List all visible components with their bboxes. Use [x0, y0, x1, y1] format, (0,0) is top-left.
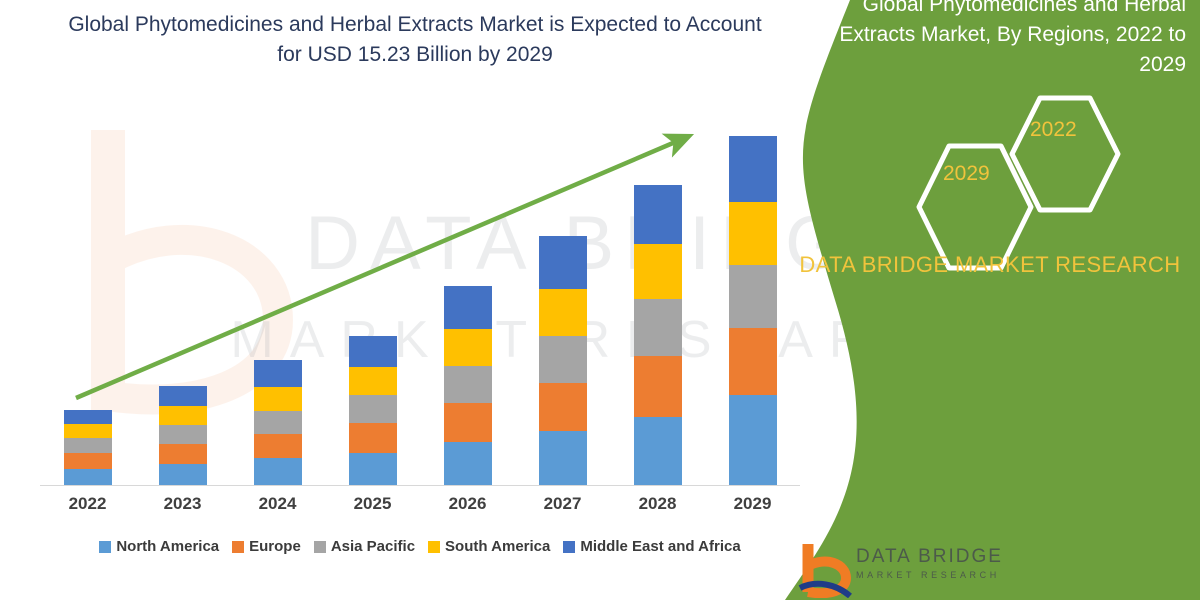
- chart-legend: North AmericaEuropeAsia PacificSouth Ame…: [40, 538, 800, 555]
- legend-swatch-icon: [428, 541, 440, 553]
- x-axis-label-2027: 2027: [528, 494, 598, 514]
- x-axis-label-2022: 2022: [53, 494, 123, 514]
- logo-tagline: MARKET RESEARCH: [856, 570, 1000, 580]
- hexagon-2029-label: 2029: [943, 162, 990, 186]
- chart-panel: Global Phytomedicines and Herbal Extract…: [0, 0, 830, 600]
- hexagon-badges: 2022 2029: [885, 90, 1185, 235]
- panel-title: Global Phytomedicines and Herbal Extract…: [826, 0, 1186, 79]
- brand-panel-content: Global Phytomedicines and Herbal Extract…: [780, 0, 1200, 600]
- logo-name: DATA BRIDGE: [856, 546, 1003, 568]
- brand-panel: Global Phytomedicines and Herbal Extract…: [780, 0, 1200, 600]
- plot-area: [40, 100, 800, 486]
- legend-swatch-icon: [99, 541, 111, 553]
- legend-item[interactable]: North America: [99, 538, 219, 555]
- legend-item[interactable]: South America: [428, 538, 550, 555]
- legend-swatch-icon: [314, 541, 326, 553]
- legend-label: Middle East and Africa: [580, 538, 740, 555]
- brand-name: DATA BRIDGE MARKET RESEARCH: [790, 250, 1190, 280]
- infographic-root: DATA BRIDGE MARKET RESEARCH Global Phyto…: [0, 0, 1200, 600]
- x-axis-labels: 20222023202420252026202720282029: [40, 494, 800, 514]
- x-axis-label-2028: 2028: [623, 494, 693, 514]
- legend-label: North America: [116, 538, 219, 555]
- legend-label: Asia Pacific: [331, 538, 415, 555]
- chart-title: Global Phytomedicines and Herbal Extract…: [60, 10, 770, 70]
- legend-item[interactable]: Asia Pacific: [314, 538, 415, 555]
- growth-trend-arrow-icon: [40, 100, 800, 486]
- x-axis-label-2026: 2026: [433, 494, 503, 514]
- hexagon-2022-label: 2022: [1030, 118, 1077, 142]
- legend-label: South America: [445, 538, 550, 555]
- x-axis-label-2024: 2024: [243, 494, 313, 514]
- legend-item[interactable]: Europe: [232, 538, 301, 555]
- legend-item[interactable]: Middle East and Africa: [563, 538, 740, 555]
- x-axis-label-2025: 2025: [338, 494, 408, 514]
- x-axis-label-2023: 2023: [148, 494, 218, 514]
- legend-swatch-icon: [563, 541, 575, 553]
- legend-label: Europe: [249, 538, 301, 555]
- company-logo: DATA BRIDGE MARKET RESEARCH: [798, 538, 1058, 600]
- x-axis-label-2029: 2029: [718, 494, 788, 514]
- legend-swatch-icon: [232, 541, 244, 553]
- logo-b-mark-icon: [798, 540, 856, 598]
